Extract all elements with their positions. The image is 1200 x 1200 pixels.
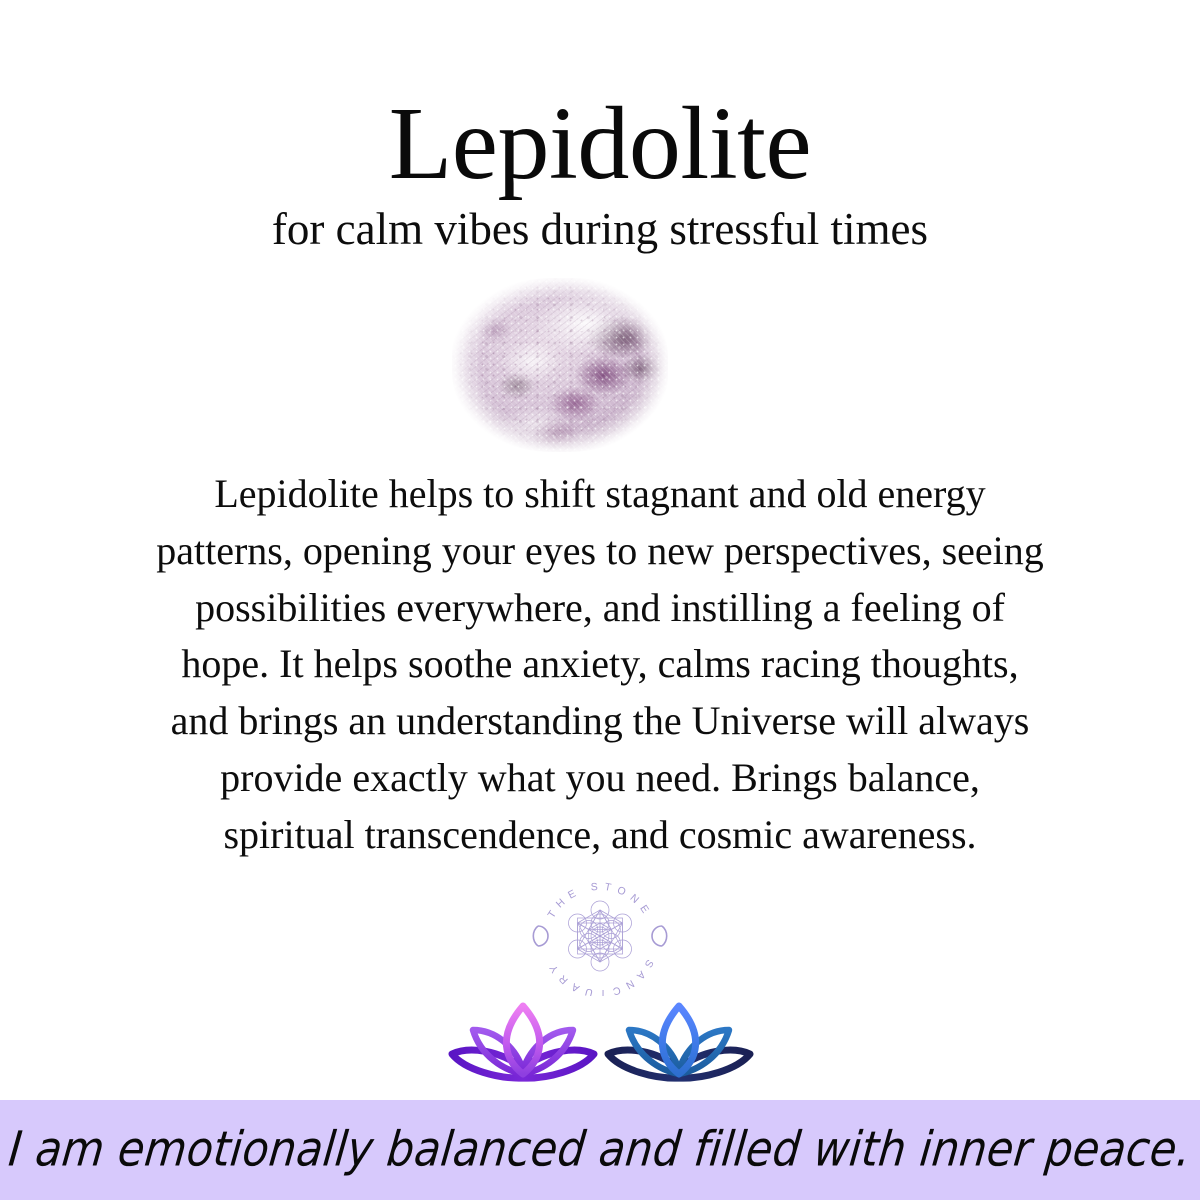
brand-logo: THE STONE SANCTUARY — [524, 872, 676, 996]
lotus-pair — [446, 996, 756, 1088]
stone-speckle-layer-b — [452, 278, 668, 452]
header: Lepidolite for calm vibes during stressf… — [0, 96, 1200, 253]
stone-image-container — [452, 278, 668, 452]
lotus-flower-purple-icon — [447, 1000, 599, 1088]
crescent-moon-right-icon — [652, 926, 667, 946]
lepidolite-tumbled-stone-icon — [452, 278, 668, 452]
page-subtitle: for calm vibes during stressful times — [0, 206, 1200, 253]
stone-speckle-layer-a — [452, 278, 668, 452]
crescent-moon-left-icon — [533, 926, 548, 946]
metatrons-cube-icon — [569, 901, 632, 971]
crystal-description: Lepidolite helps to shift stagnant and o… — [90, 466, 1110, 864]
lotus-flower-blue-icon — [603, 1000, 755, 1088]
page-title: Lepidolite — [0, 96, 1200, 192]
affirmation-text: I am emotionally balanced and filled wit… — [6, 1122, 1194, 1178]
brand-arc-bottom-text: SANCTUARY — [544, 957, 656, 996]
affirmation-banner: I am emotionally balanced and filled wit… — [0, 1100, 1200, 1200]
brand-arc-bottom-textpath: SANCTUARY — [544, 957, 656, 996]
stone-speckle-layer-c — [452, 278, 668, 452]
lepidolite-crystal-info-card: Lepidolite for calm vibes during stressf… — [0, 0, 1200, 1200]
